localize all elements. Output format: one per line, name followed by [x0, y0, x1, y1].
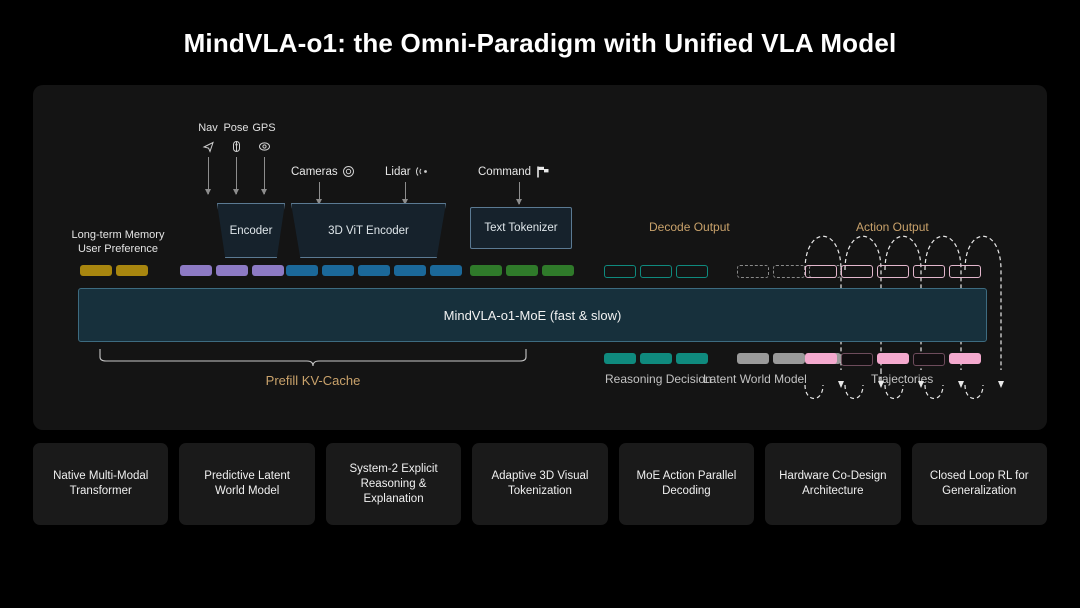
- pose-arrow: [236, 157, 237, 194]
- vit-encoder-label: 3D ViT Encoder: [328, 225, 409, 237]
- sensor-input-lidar: Lidar: [385, 165, 431, 178]
- token-chip-reasoning-decision[interactable]: [604, 353, 636, 364]
- token-chip-trajectories[interactable]: [877, 353, 909, 364]
- token-chip-action[interactable]: [877, 265, 909, 278]
- token-chip-reasoning-decision[interactable]: [676, 353, 708, 364]
- token-chip-decode-latent[interactable]: [773, 265, 805, 278]
- feature-card-line: Native Multi-Modal: [53, 469, 148, 484]
- feature-card-line: Explanation: [349, 492, 437, 507]
- token-chip-nav-pose-gps[interactable]: [252, 265, 284, 276]
- moe-label: MindVLA-o1-MoE (fast & slow): [79, 289, 986, 341]
- feature-card[interactable]: MoE Action ParallelDecoding: [619, 443, 754, 525]
- gps-target-icon: [244, 138, 284, 154]
- token-chip-action[interactable]: [841, 265, 873, 278]
- trajectories-caption: Trajectories: [871, 372, 933, 386]
- token-chip-text[interactable]: [542, 265, 574, 276]
- token-chip-text[interactable]: [470, 265, 502, 276]
- token-chip-vision[interactable]: [286, 265, 318, 276]
- memory-line-2: User Preference: [58, 242, 178, 256]
- feature-card-line: Architecture: [779, 484, 886, 499]
- token-chip-memory[interactable]: [80, 265, 112, 276]
- token-chip-action[interactable]: [913, 265, 945, 278]
- sensor-label: Cameras: [291, 166, 338, 178]
- sensor-input-cameras: Cameras: [291, 165, 355, 178]
- token-chip-vision[interactable]: [358, 265, 390, 276]
- feature-card[interactable]: System-2 ExplicitReasoning &Explanation: [326, 443, 461, 525]
- text-tokenizer-block[interactable]: Text Tokenizer: [470, 207, 572, 249]
- camera-icon: [342, 165, 355, 178]
- feature-card-line: Hardware Co-Design: [779, 469, 886, 484]
- lidar-waves-icon: [415, 165, 431, 178]
- token-chip-decode-reasoning[interactable]: [676, 265, 708, 278]
- feature-card-row: Native Multi-ModalTransformerPredictive …: [33, 443, 1047, 525]
- encoder-block[interactable]: Encoder: [217, 203, 285, 258]
- cameras-arrow: [319, 182, 320, 204]
- token-chip-decode-latent[interactable]: [737, 265, 769, 278]
- feature-card-line: Generalization: [930, 484, 1029, 499]
- nav-arrow: [208, 157, 209, 194]
- feature-card[interactable]: Closed Loop RL forGeneralization: [912, 443, 1047, 525]
- token-chip-latent-world-model[interactable]: [773, 353, 805, 364]
- feature-card[interactable]: Hardware Co-DesignArchitecture: [765, 443, 900, 525]
- reasoning-decision-caption: Reasoning Decision: [605, 372, 712, 386]
- latent-world-model-caption: Latent World Model: [703, 372, 807, 386]
- feature-card-line: MoE Action Parallel: [637, 469, 737, 484]
- token-chip-nav-pose-gps[interactable]: [180, 265, 212, 276]
- token-chip-nav-pose-gps[interactable]: [216, 265, 248, 276]
- sensor-label: Lidar: [385, 166, 411, 178]
- memory-line-1: Long-term Memory: [58, 228, 178, 242]
- token-chip-text[interactable]: [506, 265, 538, 276]
- action-output-caption: Action Output: [856, 220, 929, 234]
- long-term-memory-label: Long-term Memory User Preference: [58, 228, 178, 256]
- feature-card-line: World Model: [204, 484, 290, 499]
- token-chip-trajectories[interactable]: [913, 353, 945, 366]
- feature-card-line: Closed Loop RL for: [930, 469, 1029, 484]
- sensor-label: Command: [478, 166, 531, 178]
- text-tokenizer-label: Text Tokenizer: [484, 222, 557, 234]
- token-chip-trajectories[interactable]: [949, 353, 981, 364]
- sensor-input-command: Command: [478, 165, 550, 179]
- token-chip-action[interactable]: [805, 265, 837, 278]
- feature-card-line: Decoding: [637, 484, 737, 499]
- gps-arrow: [264, 157, 265, 194]
- vit-encoder-block[interactable]: 3D ViT Encoder: [291, 203, 446, 258]
- feature-card-line: Transformer: [53, 484, 148, 499]
- feature-card-line: Adaptive 3D Visual: [491, 469, 588, 484]
- moe-band[interactable]: MindVLA-o1-MoE (fast & slow): [78, 288, 987, 342]
- token-chip-reasoning-decision[interactable]: [640, 353, 672, 364]
- sensor-input-gps: GPS: [244, 122, 284, 154]
- encoder-label: Encoder: [230, 225, 273, 237]
- input-token-row: [33, 265, 1047, 279]
- token-chip-vision[interactable]: [322, 265, 354, 276]
- command-arrow: [519, 182, 520, 204]
- lidar-arrow: [405, 182, 406, 204]
- token-chip-memory[interactable]: [116, 265, 148, 276]
- prefill-kv-cache-label: Prefill KV-Cache: [233, 373, 393, 388]
- feature-card-line: System-2 Explicit: [349, 462, 437, 477]
- output-token-row: [33, 353, 1047, 367]
- token-chip-trajectories[interactable]: [841, 353, 873, 366]
- command-flag-icon: [535, 165, 550, 179]
- decode-output-caption: Decode Output: [649, 220, 730, 234]
- token-chip-vision[interactable]: [430, 265, 462, 276]
- feature-card-line: Reasoning &: [349, 477, 437, 492]
- architecture-diagram-panel: Nav Pose GPS Cameras: [33, 85, 1047, 430]
- page-title: MindVLA-o1: the Omni-Paradigm with Unifi…: [0, 28, 1080, 59]
- feature-card[interactable]: Native Multi-ModalTransformer: [33, 443, 168, 525]
- feature-card[interactable]: Adaptive 3D VisualTokenization: [472, 443, 607, 525]
- token-chip-decode-reasoning[interactable]: [640, 265, 672, 278]
- feature-card[interactable]: Predictive LatentWorld Model: [179, 443, 314, 525]
- feature-card-line: Predictive Latent: [204, 469, 290, 484]
- sensor-label: GPS: [244, 122, 284, 135]
- feature-card-line: Tokenization: [491, 484, 588, 499]
- token-chip-trajectories[interactable]: [805, 353, 837, 364]
- token-chip-action[interactable]: [949, 265, 981, 278]
- token-chip-vision[interactable]: [394, 265, 426, 276]
- token-chip-latent-world-model[interactable]: [737, 353, 769, 364]
- token-chip-decode-reasoning[interactable]: [604, 265, 636, 278]
